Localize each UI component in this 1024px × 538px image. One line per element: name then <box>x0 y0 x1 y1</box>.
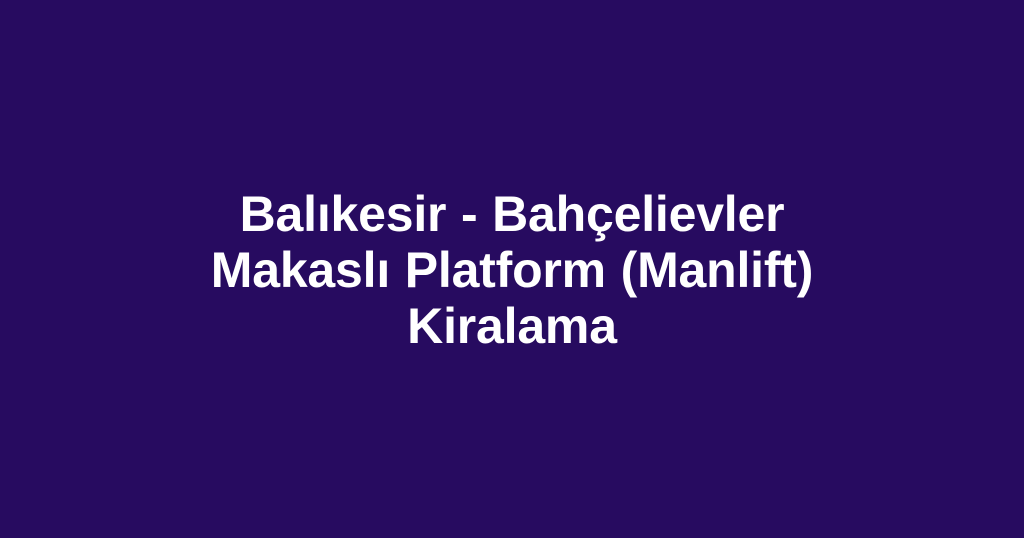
headline-block: Balıkesir - Bahçelievler Makaslı Platfor… <box>162 186 862 354</box>
share-card: Balıkesir - Bahçelievler Makaslı Platfor… <box>0 0 1024 538</box>
page-title: Balıkesir - Bahçelievler Makaslı Platfor… <box>162 186 862 354</box>
